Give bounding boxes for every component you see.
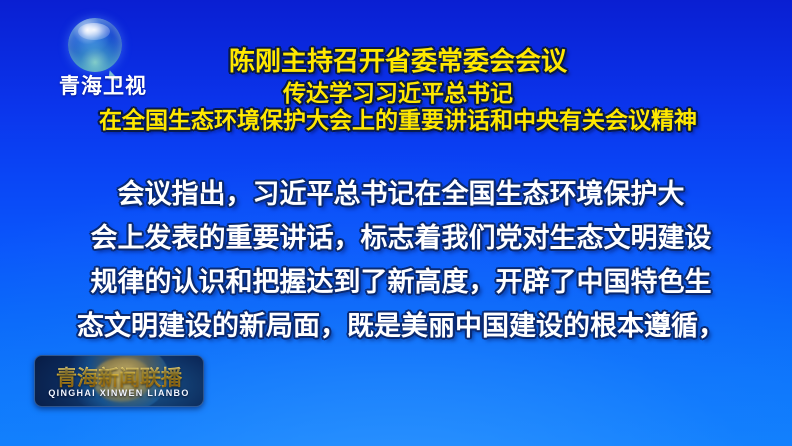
- body-line: 态文明建设的新局面，既是美丽中国建设的根本遵循，: [56, 304, 746, 348]
- program-title-en: QINGHAI XINWEN LIANBO: [35, 388, 203, 398]
- body-line: 规律的认识和把握达到了新高度，开辟了中国特色生: [56, 260, 746, 304]
- headline-line-2: 传达学习习近平总书记: [56, 81, 740, 105]
- body-paragraph: 会议指出，习近平总书记在全国生态环境保护大 会上发表的重要讲话，标志着我们党对生…: [56, 172, 746, 348]
- body-line: 会议指出，习近平总书记在全国生态环境保护大: [56, 172, 746, 216]
- broadcast-screen: 青海卫视 陈刚主持召开省委常委会会议 传达学习习近平总书记 在全国生态环境保护大…: [0, 0, 792, 446]
- program-bug: 青海新闻联播 QINGHAI XINWEN LIANBO: [34, 355, 204, 407]
- body-line: 会上发表的重要讲话，标志着我们党对生态文明建设: [56, 216, 746, 260]
- headline-line-1: 陈刚主持召开省委常委会会议: [56, 48, 740, 76]
- headline-block: 陈刚主持召开省委常委会会议 传达学习习近平总书记 在全国生态环境保护大会上的重要…: [56, 48, 740, 132]
- headline-line-3: 在全国生态环境保护大会上的重要讲话和中央有关会议精神: [56, 108, 740, 132]
